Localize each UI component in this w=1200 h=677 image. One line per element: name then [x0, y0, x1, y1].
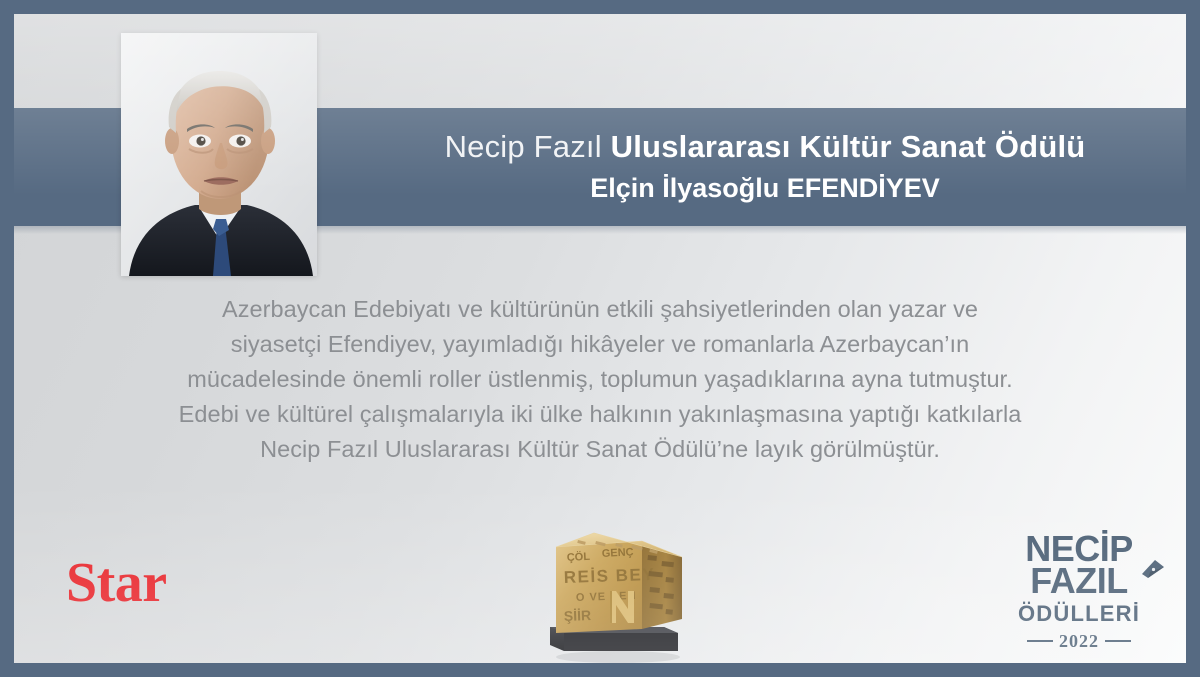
award-logo-line3: ÖDÜLLERİ [1006, 602, 1152, 626]
award-logo-year-row: 2022 [1006, 631, 1152, 652]
laureate-name: Elçin İlyasoğlu EFENDİYEV [590, 172, 940, 204]
svg-text:O VE BEN: O VE BEN [576, 590, 637, 604]
year-rule-right [1105, 640, 1131, 642]
trophy-illustration: ÇÖL GENÇ REİS BEY O VE BEN ŞİİR [526, 511, 706, 663]
year-rule-left [1027, 640, 1053, 642]
award-title-prefix: Necip Fazıl [445, 129, 602, 164]
award-trophy: ÇÖL GENÇ REİS BEY O VE BEN ŞİİR [526, 511, 706, 663]
award-logo: NECİP FAZIL ÖDÜLLERİ 2022 [1006, 533, 1152, 663]
svg-text:GENÇ: GENÇ [602, 546, 634, 560]
poster-frame: Necip Fazıl Uluslararası Kültür Sanat Öd… [0, 0, 1200, 677]
award-logo-year: 2022 [1059, 631, 1099, 652]
laureate-portrait [121, 33, 317, 276]
award-title-line1: Necip Fazıl Uluslararası Kültür Sanat Öd… [445, 130, 1086, 165]
citation-line-5: Necip Fazıl Uluslararası Kültür Sanat Öd… [86, 432, 1114, 467]
citation-line-3: mücadelesinde önemli roller üstlenmiş, t… [86, 362, 1114, 397]
svg-text:ÇÖL: ÇÖL [566, 550, 590, 564]
poster-canvas: Necip Fazıl Uluslararası Kültür Sanat Öd… [14, 14, 1186, 663]
award-title-main: Uluslararası Kültür Sanat Ödülü [611, 129, 1086, 164]
citation-line-4: Edebi ve kültürel çalışmalarıyla iki ülk… [86, 397, 1114, 432]
award-logo-line2: FAZIL [1006, 565, 1152, 597]
award-logo-line2-text: FAZIL [1030, 560, 1127, 601]
svg-text:ŞİİR: ŞİİR [564, 607, 592, 624]
star-logo: Star [66, 555, 167, 611]
svg-text:REİS BEY: REİS BEY [563, 565, 655, 587]
citation-line-1: Azerbaycan Edebiyatı ve kültürünün etkil… [86, 292, 1114, 327]
citation-text: Azerbaycan Edebiyatı ve kültürünün etkil… [86, 292, 1114, 467]
pen-nib-icon [1141, 558, 1165, 580]
portrait-illustration [121, 33, 317, 276]
citation-line-2: siyasetçi Efendiyev, yayımladığı hikâyel… [86, 327, 1114, 362]
award-title-block: Necip Fazıl Uluslararası Kültür Sanat Öd… [344, 108, 1166, 226]
